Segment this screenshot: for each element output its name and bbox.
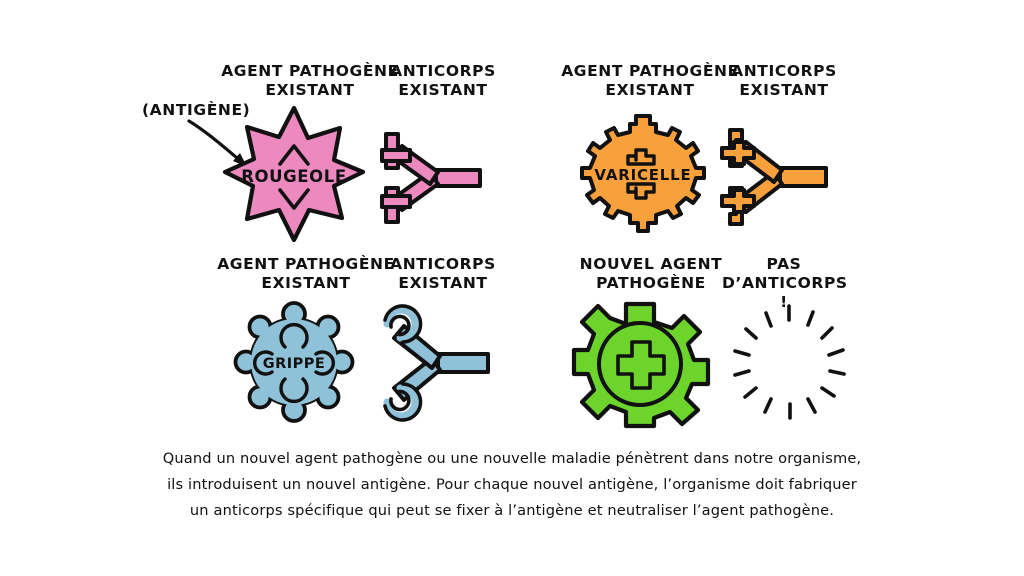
caption-line-1: Quand un nouvel agent pathogène ou une n… [140,446,884,472]
header-antibody-existing-3: ANTICORPS EXISTANT [385,255,501,293]
caption-line-2: ils introduisent un nouvel antigène. Pou… [140,472,884,498]
pathogen-rougeole: ROUGEOLE [222,104,367,244]
header-pathogen-new: NOUVEL AGENT PATHOGÈNE [578,255,724,293]
header-pathogen-existing-2: AGENT PATHOGÈNE EXISTANT [560,62,740,100]
caption-line-3: un anticorps spécifique qui peut se fixe… [140,498,884,524]
pathogen-varicelle: VARICELLE [578,110,710,240]
pathogen-nouveau [572,300,708,426]
antibody-grippe [372,308,498,420]
antibody-rougeole [376,128,492,230]
pathogen-name-varicelle: VARICELLE [594,166,691,184]
header-pathogen-existing-3: AGENT PATHOGÈNE EXISTANT [216,255,396,293]
no-antibody-dashes [726,300,852,424]
header-antibody-existing-2: ANTICORPS EXISTANT [726,62,842,100]
caption-block: Quand un nouvel agent pathogène ou une n… [140,446,884,524]
header-pathogen-existing-1: AGENT PATHOGÈNE EXISTANT [220,62,400,100]
antibody-varicelle [716,124,838,232]
pathogen-name-rougeole: ROUGEOLE [241,167,347,186]
header-antibody-existing-1: ANTICORPS EXISTANT [385,62,501,100]
pathogen-grippe: GRIPPE [230,300,358,424]
infographic-canvas: AGENT PATHOGÈNE EXISTANT (ANTIGÈNE) ROUG… [0,0,1024,576]
pathogen-name-grippe: GRIPPE [263,356,326,372]
